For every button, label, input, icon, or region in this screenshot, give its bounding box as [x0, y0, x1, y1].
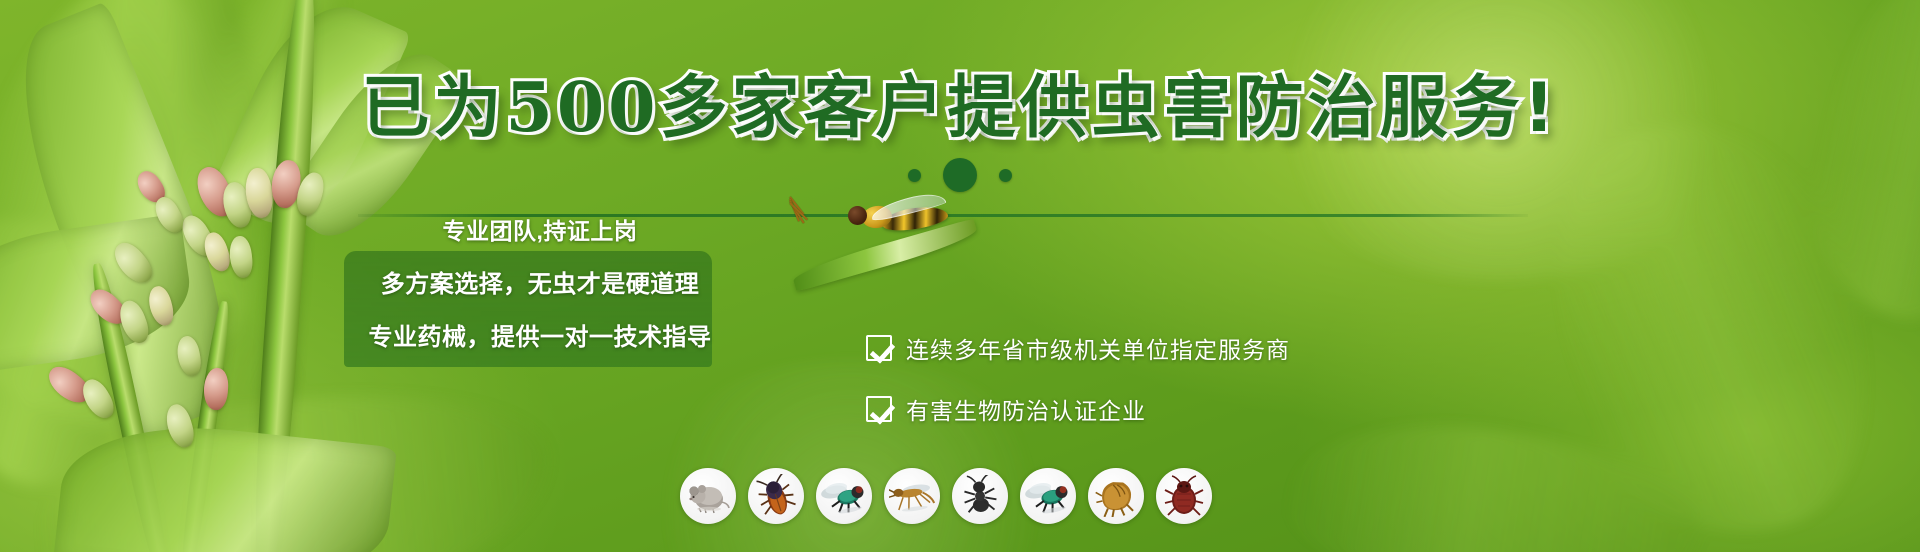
checkbox-checked-icon [866, 335, 892, 361]
pest-control-banner: 已为500多家客户提供虫害防治服务! 专业团队,持证上岗 多方案选择，无虫才是硬… [0, 0, 1920, 552]
leaf-blade [791, 218, 980, 292]
claim-line-1: 专业团队,持证上岗 [443, 212, 638, 246]
headline-number: 500 [506, 68, 660, 148]
bedbug-icon [1156, 468, 1212, 524]
plant-bud [228, 235, 254, 279]
hoverfly-on-leaf-icon: hoverfly [790, 196, 1010, 286]
headline-suffix: 多家客户提供虫害防治服务! [659, 69, 1558, 148]
headline-prefix: 已为 [362, 69, 506, 148]
dot-small-right [999, 169, 1012, 182]
fly-head [848, 206, 867, 225]
credential-item-1: 连续多年省市级机关单位指定服务商 [866, 331, 1626, 365]
blowfly-icon [1020, 468, 1076, 524]
credential-text-1: 连续多年省市级机关单位指定服务商 [906, 331, 1290, 365]
claims-text-group: 专业团队,持证上岗 多方案选择，无虫才是硬道理 专业药械，提供一对一技术指导 [330, 212, 750, 352]
page-title: 已为500多家客户提供虫害防治服务! [0, 74, 1920, 143]
ant-icon [952, 468, 1008, 524]
credential-item-2: 有害生物防治认证企业 [866, 392, 1626, 426]
mouse-icon [680, 468, 736, 524]
checkbox-checked-icon [866, 396, 892, 422]
dot-small-left [908, 169, 921, 182]
cockroach-icon [748, 468, 804, 524]
dot-large-center [943, 158, 977, 192]
pest-icon-strip [680, 468, 1212, 524]
credential-list: 连续多年省市级机关单位指定服务商 有害生物防治认证企业 [866, 331, 1626, 426]
mosquito-icon [884, 468, 940, 524]
fly-icon [816, 468, 872, 524]
plant-leaf [53, 413, 397, 552]
decorative-dots [0, 158, 1920, 192]
claim-line-3: 专业药械，提供一对一技术指导 [369, 317, 712, 352]
credential-text-2: 有害生物防治认证企业 [906, 392, 1146, 426]
flea-icon [1088, 468, 1144, 524]
claim-line-2: 多方案选择，无虫才是硬道理 [381, 264, 700, 299]
